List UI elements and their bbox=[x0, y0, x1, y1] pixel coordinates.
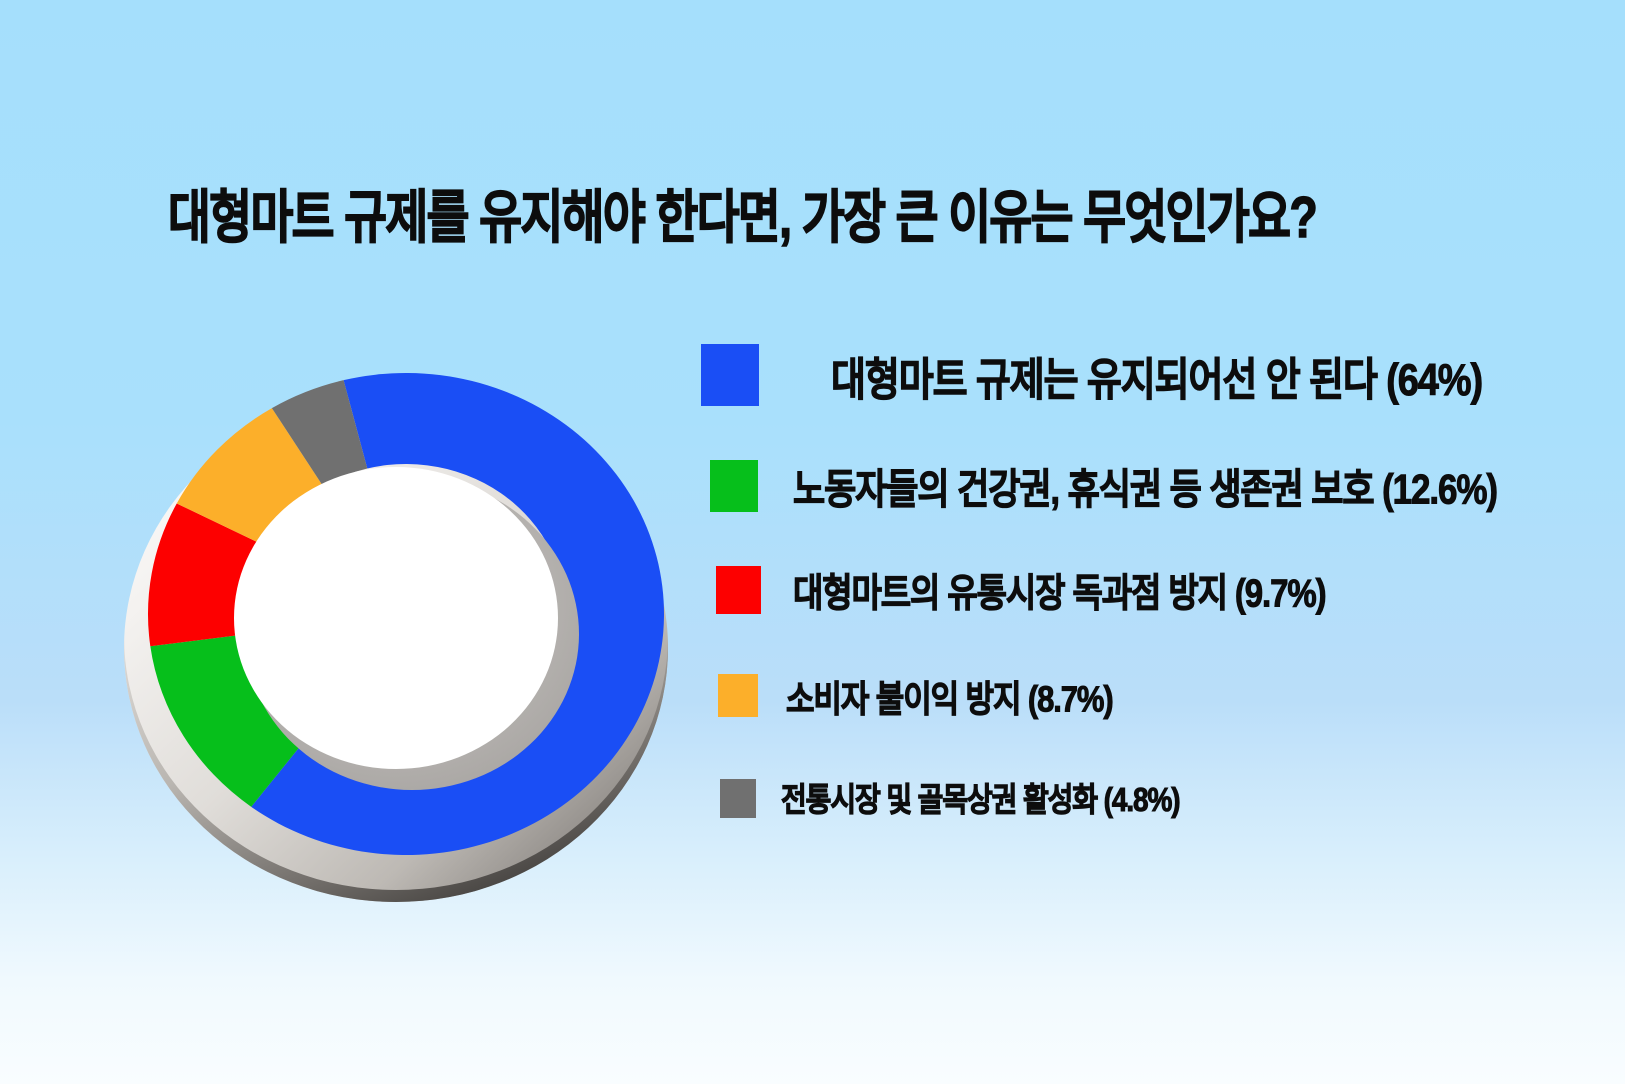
chart-legend: 대형마트 규제는 유지되어선 안 된다 (64%) 노동자들의 건강권, 휴식권… bbox=[690, 330, 1590, 850]
donut-center-hole bbox=[234, 467, 558, 769]
legend-item-0[interactable]: 대형마트 규제는 유지되어선 안 된다 (64%) bbox=[701, 344, 1482, 406]
legend-item-3[interactable]: 소비자 불이익 방지 (8.7%) bbox=[718, 673, 1113, 718]
legend-item-label: 소비자 불이익 방지 (8.7%) bbox=[786, 669, 1113, 722]
donut-chart-svg bbox=[120, 318, 690, 908]
legend-item-label: 대형마트의 유통시장 독과점 방지 (9.7%) bbox=[793, 562, 1326, 619]
legend-item-4[interactable]: 전통시장 및 골목상권 활성화 (4.8%) bbox=[720, 778, 1180, 818]
legend-item-label: 전통시장 및 골목상권 활성화 (4.8%) bbox=[781, 774, 1180, 821]
legend-item-label: 대형마트 규제는 유지되어선 안 된다 (64%) bbox=[831, 343, 1482, 408]
legend-item-1[interactable]: 노동자들의 건강권, 휴식권 등 생존권 보호 (12.6%) bbox=[710, 460, 1497, 512]
infographic-canvas: 대형마트 규제를 유지해야 한다면, 가장 큰 이유는 무엇인가요? bbox=[0, 0, 1625, 1084]
legend-item-label: 노동자들의 건강권, 휴식권 등 생존권 보호 (12.6%) bbox=[793, 456, 1497, 516]
page-title: 대형마트 규제를 유지해야 한다면, 가장 큰 이유는 무엇인가요? bbox=[168, 186, 1445, 249]
legend-swatch-icon bbox=[701, 344, 759, 406]
donut-chart bbox=[120, 318, 690, 908]
legend-swatch-icon bbox=[710, 460, 758, 512]
legend-swatch-icon bbox=[718, 674, 758, 717]
legend-item-2[interactable]: 대형마트의 유통시장 독과점 방지 (9.7%) bbox=[716, 566, 1326, 614]
legend-swatch-icon bbox=[716, 566, 761, 614]
legend-swatch-icon bbox=[720, 779, 756, 818]
